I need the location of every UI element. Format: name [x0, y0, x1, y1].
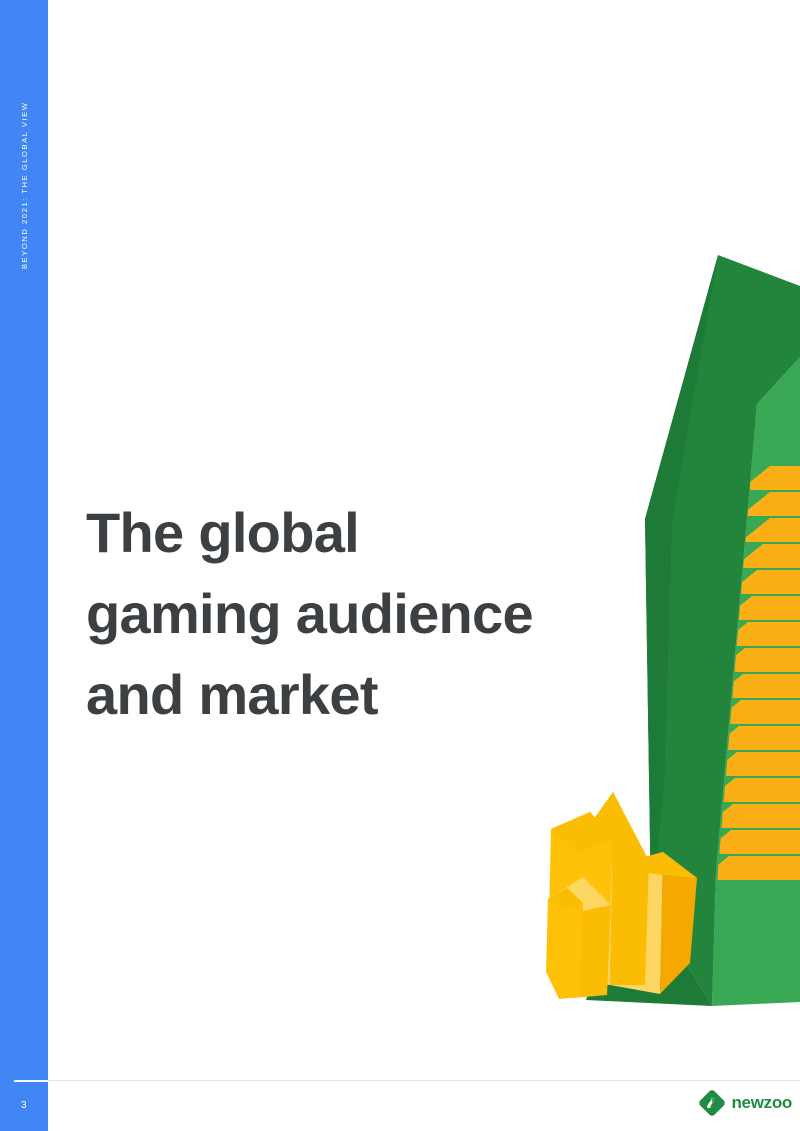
gold-crystal-left-body	[548, 812, 613, 996]
sidebar-divider	[14, 1080, 48, 1082]
gold-crystal-center-left	[574, 792, 613, 985]
gold-crystal-left-top	[551, 812, 613, 852]
page-title-line-1: The global	[86, 492, 626, 573]
gold-crystal-small-top	[548, 888, 583, 908]
gold-crystal-right-top	[612, 852, 697, 878]
gold-crystal-center-right	[610, 792, 649, 985]
monolith-side-face	[712, 357, 800, 1006]
page-title: The global gaming audience and market	[86, 492, 626, 735]
gold-crystal-small-body	[546, 888, 583, 999]
monolith-top-face	[645, 255, 718, 907]
gold-crystal-right-face	[610, 852, 663, 994]
gold-crystal-front-top	[551, 877, 611, 912]
gold-crystal-center-top	[574, 792, 649, 861]
newzoo-diamond-icon	[697, 1088, 727, 1118]
monolith-base-shadow	[586, 905, 712, 1006]
sidebar: BEYOND 2021: THE GLOBAL VIEW 3	[0, 0, 48, 1131]
page-title-line-2: gaming audience	[86, 573, 626, 654]
monolith-stripe-group	[699, 466, 800, 880]
page-canvas: BEYOND 2021: THE GLOBAL VIEW 3 The globa…	[0, 0, 800, 1131]
newzoo-logo: newzoo	[697, 1086, 792, 1120]
newzoo-wordmark: newzoo	[731, 1093, 792, 1113]
monolith-front-face	[645, 255, 800, 1006]
gold-crystal-right-side	[660, 852, 697, 994]
page-title-line-3: and market	[86, 654, 626, 735]
running-head: BEYOND 2021: THE GLOBAL VIEW	[0, 0, 48, 1131]
page-number: 3	[0, 1100, 48, 1111]
gold-crystal-front-body	[549, 877, 611, 998]
footer-divider	[48, 1080, 800, 1081]
